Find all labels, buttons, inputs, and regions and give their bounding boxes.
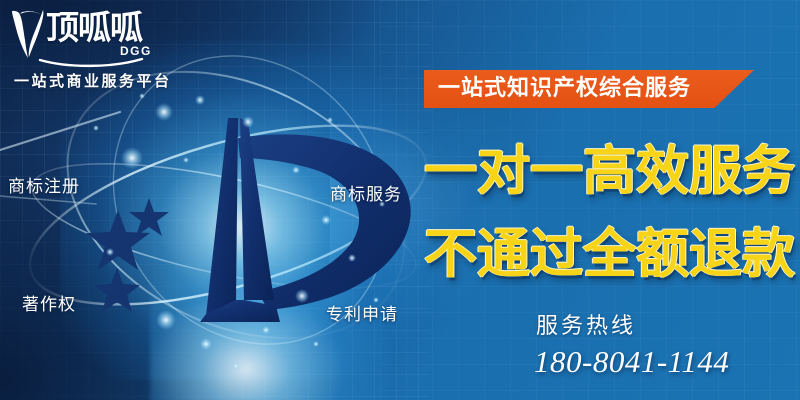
logo-wordmark: 顶呱呱 <box>46 10 142 46</box>
logo[interactable]: 顶呱呱 DGG 一站式商业服务平台 <box>8 8 178 64</box>
promotional-banner: 顶呱呱 DGG 一站式商业服务平台 商标注册 商标服务 著作权 专利申请 一站式… <box>0 0 800 400</box>
logo-row: 顶呱呱 DGG <box>8 8 178 64</box>
service-label-patent-application[interactable]: 专利申请 <box>326 300 398 325</box>
sparkle-particle-icon <box>93 93 385 369</box>
promo-headline-secondary: 不通过全额退款 <box>424 226 795 283</box>
service-label-trademark-registration[interactable]: 商标注册 <box>8 172 80 197</box>
service-label-copyright[interactable]: 著作权 <box>22 290 76 315</box>
star-icon <box>86 198 169 312</box>
promo-headline-primary: 一对一高效服务 <box>424 143 795 200</box>
hotline-number[interactable]: 180-8041-1144 <box>534 344 729 380</box>
rocket-spire-left <box>206 118 238 316</box>
promo-ribbon-text: 一站式知识产权综合服务 <box>438 70 691 108</box>
leaf-v-logo-icon <box>10 8 46 60</box>
hotline-label: 服务热线 <box>536 308 636 340</box>
logo-tagline: 一站式商业服务平台 <box>14 70 172 91</box>
logo-underline-swoosh-icon <box>38 58 148 68</box>
promo-ribbon: 一站式知识产权综合服务 <box>424 70 754 108</box>
logo-abbreviation: DGG <box>120 44 152 58</box>
service-label-trademark-service[interactable]: 商标服务 <box>330 180 402 205</box>
